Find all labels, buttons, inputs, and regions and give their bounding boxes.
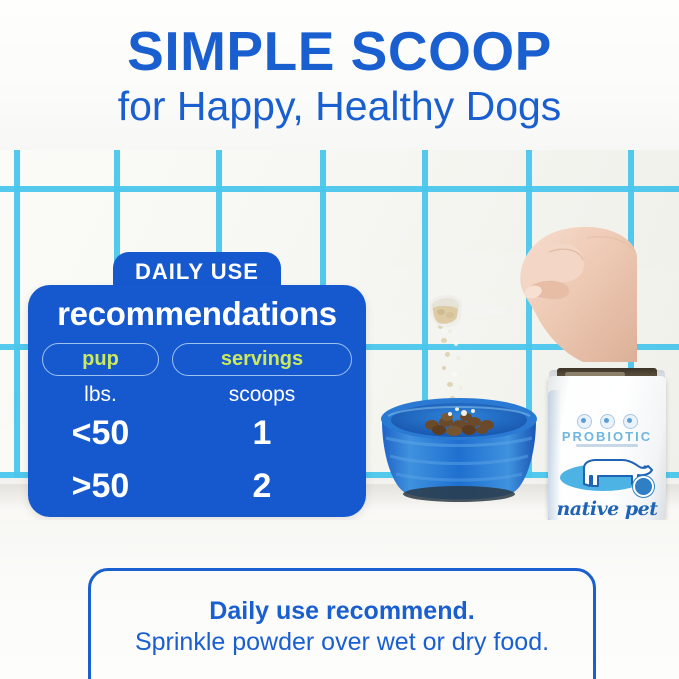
tin-category-label: PROBIOTIC — [548, 429, 666, 444]
table-row: >50 2 — [42, 467, 352, 506]
table-row: <50 1 — [42, 414, 352, 453]
row-scoops: 1 — [172, 414, 352, 453]
row-scoops: 2 — [172, 467, 352, 506]
recommendations-title: recommendations — [28, 295, 366, 333]
probiotic-tin: PROBIOTIC native pet — [548, 362, 666, 520]
callout-heading: Daily use recommend. — [91, 597, 593, 626]
pill-servings: servings — [172, 343, 352, 376]
leaf-icon — [600, 414, 615, 429]
quality-seal-badge — [633, 476, 654, 497]
pill-pup: pup — [42, 343, 159, 376]
callout-body: Sprinkle powder over wet or dry food. — [91, 628, 593, 657]
measuring-scoop — [428, 294, 508, 330]
dog-food-bowl — [378, 398, 540, 510]
tin-tagline-blur — [548, 444, 666, 448]
page-title: SIMPLE SCOOP — [0, 22, 679, 80]
tin-dog-artwork — [560, 454, 656, 500]
grout-line-vertical — [14, 148, 20, 488]
page-subtitle: for Happy, Healthy Dogs — [0, 83, 679, 129]
tin-benefit-icons — [548, 414, 666, 429]
unit-scoops: scoops — [172, 383, 352, 407]
daily-use-tab-label: DAILY USE — [135, 259, 259, 285]
row-weight: >50 — [42, 467, 159, 506]
recommendations-card: recommendations pup servings lbs. scoops… — [28, 285, 366, 517]
tin-body: PROBIOTIC native pet — [548, 376, 666, 520]
column-header-pills: pup servings — [42, 343, 352, 376]
infographic-canvas: PROBIOTIC native pet SIMPLE SCOOP for Ha… — [0, 0, 679, 679]
pill-servings-label: servings — [221, 348, 303, 371]
row-weight: <50 — [42, 414, 159, 453]
paw-icon — [577, 414, 592, 429]
shield-icon — [623, 414, 638, 429]
grout-line-horizontal — [0, 186, 679, 192]
header-band: SIMPLE SCOOP for Happy, Healthy Dogs — [0, 0, 679, 150]
usage-callout-box: Daily use recommend. Sprinkle powder ove… — [88, 568, 596, 679]
column-unit-row: lbs. scoops — [42, 383, 352, 407]
pill-pup-label: pup — [82, 348, 119, 371]
tin-brand-logo: native pet — [548, 498, 666, 520]
unit-lbs: lbs. — [42, 383, 159, 407]
hand-holding-scoop — [487, 212, 637, 362]
